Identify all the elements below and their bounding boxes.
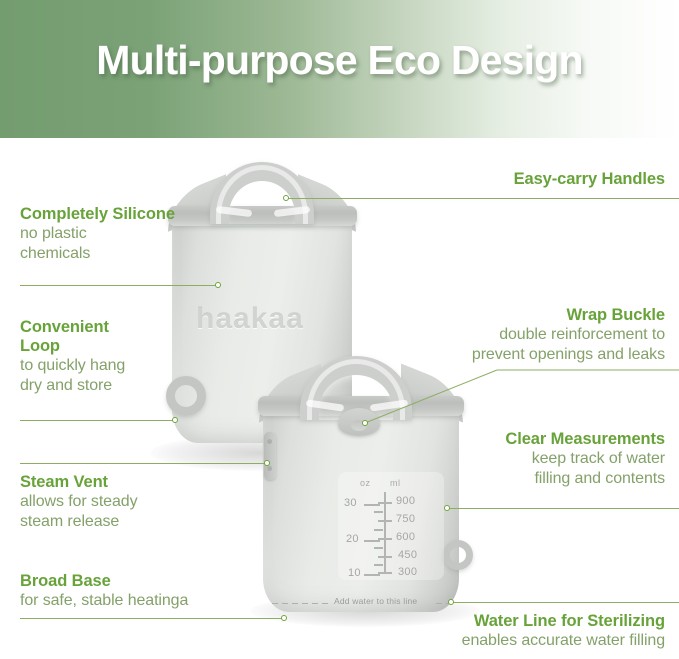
leader-dot-wrap-buckle <box>362 420 368 426</box>
leader-broad-base <box>20 618 282 619</box>
annotation-body-line: dry and store <box>20 376 125 396</box>
leader-completely-silicone <box>20 285 216 286</box>
leader-dot-water-line <box>448 599 454 605</box>
annotation-wrap-buckle: Wrap Buckle double reinforcement to prev… <box>472 306 665 365</box>
leader-steam-vent <box>20 463 266 464</box>
leader-dot-convenient-loop <box>172 417 178 423</box>
annotation-body-line: enables accurate water filling <box>462 631 665 651</box>
annotation-completely-silicone: Completely Silicone no plastic chemicals <box>20 205 175 264</box>
measure-tick-minor-1 <box>374 511 383 513</box>
measure-tick-750 <box>378 520 392 522</box>
annotation-heading: Convenient <box>20 318 125 337</box>
annotation-body-line: filling and contents <box>505 469 665 489</box>
hanging-loop <box>166 376 206 416</box>
annotation-heading: Wrap Buckle <box>472 306 665 325</box>
measure-unit-ml: ml <box>390 478 401 488</box>
annotation-steam-vent: Steam Vent allows for steady steam relea… <box>20 473 137 532</box>
annotation-body-line: double reinforcement to <box>472 325 665 345</box>
measure-num-ml-900: 900 <box>396 495 415 507</box>
measure-tick-450 <box>378 556 392 558</box>
measure-tick-minor-2 <box>374 529 383 531</box>
leader-dot-steam-vent <box>264 460 270 466</box>
measure-tick-oz-20 <box>364 540 380 542</box>
steam-vent <box>264 432 276 480</box>
measurement-panel: oz ml 900 750 600 450 300 30 <box>338 472 444 580</box>
annotation-clear-measurements: Clear Measurements keep track of water f… <box>505 430 665 489</box>
measure-num-oz-30: 30 <box>344 497 357 509</box>
annotation-heading: Clear Measurements <box>505 430 665 449</box>
annotation-body-line: allows for steady <box>20 492 137 512</box>
measure-tick-300 <box>378 572 392 574</box>
measure-tick-minor-4 <box>374 564 383 566</box>
annotation-heading-cont: Loop <box>20 337 125 356</box>
leader-dot-completely-silicone <box>215 282 221 288</box>
leader-dot-clear-measurements <box>444 505 450 511</box>
annotation-heading: Easy-carry Handles <box>514 170 665 189</box>
measure-tick-minor-3 <box>374 547 383 549</box>
steam-vent-nub-bottom <box>267 466 272 471</box>
measure-num-ml-600: 600 <box>396 531 415 543</box>
annotation-heading: Completely Silicone <box>20 205 175 224</box>
measure-tick-oz-10 <box>364 574 380 576</box>
measure-tick-900 <box>378 502 392 504</box>
measure-num-ml-450: 450 <box>398 549 417 561</box>
measure-num-oz-10: 10 <box>348 567 361 579</box>
page-title: Multi-purpose Eco Design <box>0 37 679 84</box>
leader-dot-broad-base <box>281 615 287 621</box>
annotation-easy-carry-handles: Easy-carry Handles <box>514 170 665 189</box>
steam-vent-nub-top <box>267 439 272 444</box>
annotation-body-line: chemicals <box>20 244 175 264</box>
water-line-dash-left <box>272 603 328 604</box>
annotation-heading: Steam Vent <box>20 473 137 492</box>
annotation-body-line: to quickly hang <box>20 356 125 376</box>
annotation-body-line: no plastic <box>20 224 175 244</box>
measure-num-ml-750: 750 <box>396 513 415 525</box>
measure-tick-600 <box>378 538 392 540</box>
annotation-body-line: keep track of water <box>505 449 665 469</box>
water-line-label: Add water to this line <box>334 596 417 606</box>
annotation-heading: Water Line for Sterilizing <box>462 612 665 631</box>
annotation-convenient-loop: Convenient Loop to quickly hang dry and … <box>20 318 125 396</box>
annotation-water-line-sterilizing: Water Line for Sterilizing enables accur… <box>462 612 665 651</box>
measure-num-oz-20: 20 <box>346 533 359 545</box>
leader-convenient-loop <box>20 420 173 421</box>
leader-water-line <box>452 602 679 603</box>
brand-emboss: haakaa <box>196 302 304 336</box>
leader-dot-easy-carry-handles <box>283 195 289 201</box>
leader-easy-carry-handles <box>286 198 679 199</box>
front-hanging-loop <box>443 540 473 570</box>
header-banner: Multi-purpose Eco Design <box>0 0 679 138</box>
annotation-body-line: steam release <box>20 512 137 532</box>
annotation-heading: Broad Base <box>20 572 188 591</box>
measure-unit-oz: oz <box>360 478 371 488</box>
measure-tick-oz-30 <box>364 504 380 506</box>
wrap-buckle <box>338 408 380 436</box>
measure-spine <box>384 492 386 574</box>
annotation-broad-base: Broad Base for safe, stable heatinga <box>20 572 188 611</box>
annotation-body-line: for safe, stable heatinga <box>20 591 188 611</box>
rear-bag-handle <box>210 162 314 224</box>
leader-clear-measurements <box>448 508 679 509</box>
measure-num-ml-300: 300 <box>398 566 417 578</box>
infographic-canvas: Multi-purpose Eco Design haakaa <box>0 0 679 659</box>
annotation-body-line: prevent openings and leaks <box>472 345 665 365</box>
